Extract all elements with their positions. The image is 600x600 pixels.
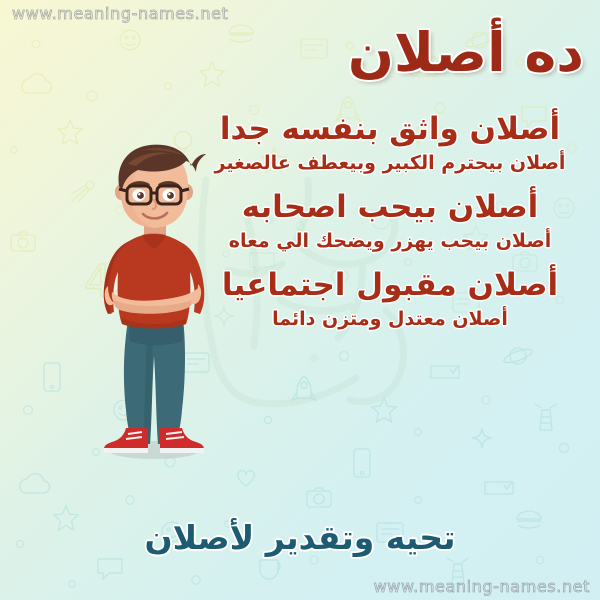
trait-line: أصلان بيحترم الكبير وبيعطف عالصغير <box>190 153 590 174</box>
site-watermark-top: www.meaning-names.net <box>12 4 228 23</box>
page-title: ده أصلان <box>348 26 584 80</box>
trait-line: أصلان واثق بنفسه جدا <box>190 112 590 147</box>
name-card: 42 <box>0 0 600 600</box>
trait-line: أصلان معتدل ومتزن دائما <box>190 309 590 330</box>
site-watermark-bottom: www.meaning-names.net <box>374 577 590 596</box>
character-shirt <box>104 234 205 329</box>
trait-line: أصلان مقبول اجتماعيا <box>190 268 590 303</box>
salute-text: تحيه وتقدير لأصلان <box>0 518 600 557</box>
trait-line: أصلان بيحب يهزر ويضحك الي معاه <box>190 231 590 252</box>
trait-line: أصلان بيحب اصحابه <box>190 190 590 225</box>
cartoon-boy-illustration <box>86 142 222 472</box>
character-jeans <box>124 310 185 444</box>
trait-list: أصلان واثق بنفسه جدا أصلان بيحترم الكبير… <box>190 112 590 330</box>
